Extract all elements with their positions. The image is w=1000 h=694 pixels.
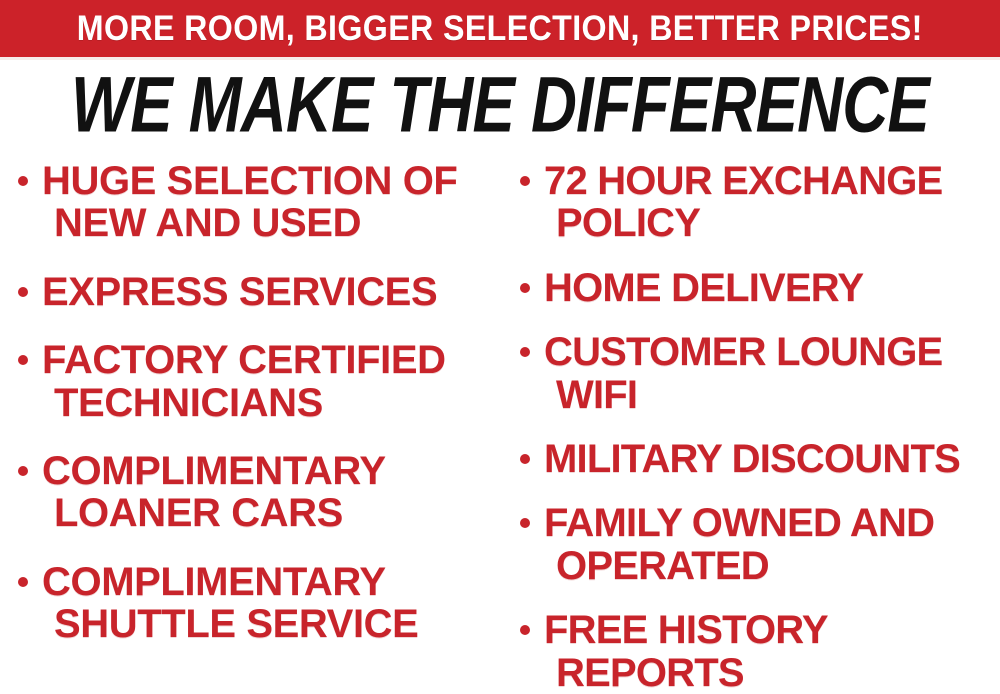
- list-item: HOME DELIVERY: [520, 267, 1000, 309]
- list-item: COMPLIMENTARY SHUTTLE SERVICE: [18, 561, 496, 646]
- bullet-dot-icon: [520, 454, 530, 464]
- list-item: HUGE SELECTION OF NEW AND USED: [18, 160, 496, 245]
- bullet-dot-icon: [18, 577, 28, 587]
- list-item: 72 HOUR EXCHANGE POLICY: [520, 160, 1000, 245]
- promo-poster: MORE ROOM, BIGGER SELECTION, BETTER PRIC…: [0, 0, 1000, 694]
- bullet-dot-icon: [520, 625, 530, 635]
- benefits-columns: HUGE SELECTION OF NEW AND USED EXPRESS S…: [0, 160, 1000, 694]
- list-item-label: EXPRESS SERVICES: [42, 271, 496, 313]
- banner-headline-text: MORE ROOM, BIGGER SELECTION, BETTER PRIC…: [77, 11, 923, 46]
- list-item-label: COMPLIMENTARY SHUTTLE SERVICE: [42, 561, 496, 646]
- list-item-label: HOME DELIVERY: [544, 267, 1000, 309]
- list-item-label: FREE HISTORY REPORTS: [544, 609, 1000, 694]
- bullet-dot-icon: [520, 176, 530, 186]
- list-item-label: FAMILY OWNED AND OPERATED: [544, 502, 1000, 587]
- page-title: WE MAKE THE DIFFERENCE: [70, 66, 930, 144]
- list-item-label: HUGE SELECTION OF NEW AND USED: [42, 160, 496, 245]
- banner-underline-divider: [0, 57, 1000, 60]
- list-item: COMPLIMENTARY LOANER CARS: [18, 450, 496, 535]
- list-item: EXPRESS SERVICES: [18, 271, 496, 313]
- list-item: FAMILY OWNED AND OPERATED: [520, 502, 1000, 587]
- list-item-label: CUSTOMER LOUNGE WIFI: [544, 331, 1000, 416]
- bullet-dot-icon: [520, 518, 530, 528]
- benefits-column-right: 72 HOUR EXCHANGE POLICY HOME DELIVERY CU…: [500, 160, 1000, 694]
- list-item-label: COMPLIMENTARY LOANER CARS: [42, 450, 496, 535]
- bullet-dot-icon: [520, 283, 530, 293]
- bullet-dot-icon: [520, 347, 530, 357]
- list-item: FACTORY CERTIFIED TECHNICIANS: [18, 339, 496, 424]
- list-item-label: 72 HOUR EXCHANGE POLICY: [544, 160, 1000, 245]
- bullet-dot-icon: [18, 287, 28, 297]
- benefits-column-left: HUGE SELECTION OF NEW AND USED EXPRESS S…: [0, 160, 500, 672]
- list-item: MILITARY DISCOUNTS: [520, 438, 1000, 480]
- list-item: CUSTOMER LOUNGE WIFI: [520, 331, 1000, 416]
- bullet-dot-icon: [18, 176, 28, 186]
- bullet-dot-icon: [18, 355, 28, 365]
- list-item-label: MILITARY DISCOUNTS: [544, 438, 1000, 480]
- list-item-label: FACTORY CERTIFIED TECHNICIANS: [42, 339, 496, 424]
- list-item: FREE HISTORY REPORTS: [520, 609, 1000, 694]
- bullet-dot-icon: [18, 466, 28, 476]
- top-banner: MORE ROOM, BIGGER SELECTION, BETTER PRIC…: [0, 0, 1000, 57]
